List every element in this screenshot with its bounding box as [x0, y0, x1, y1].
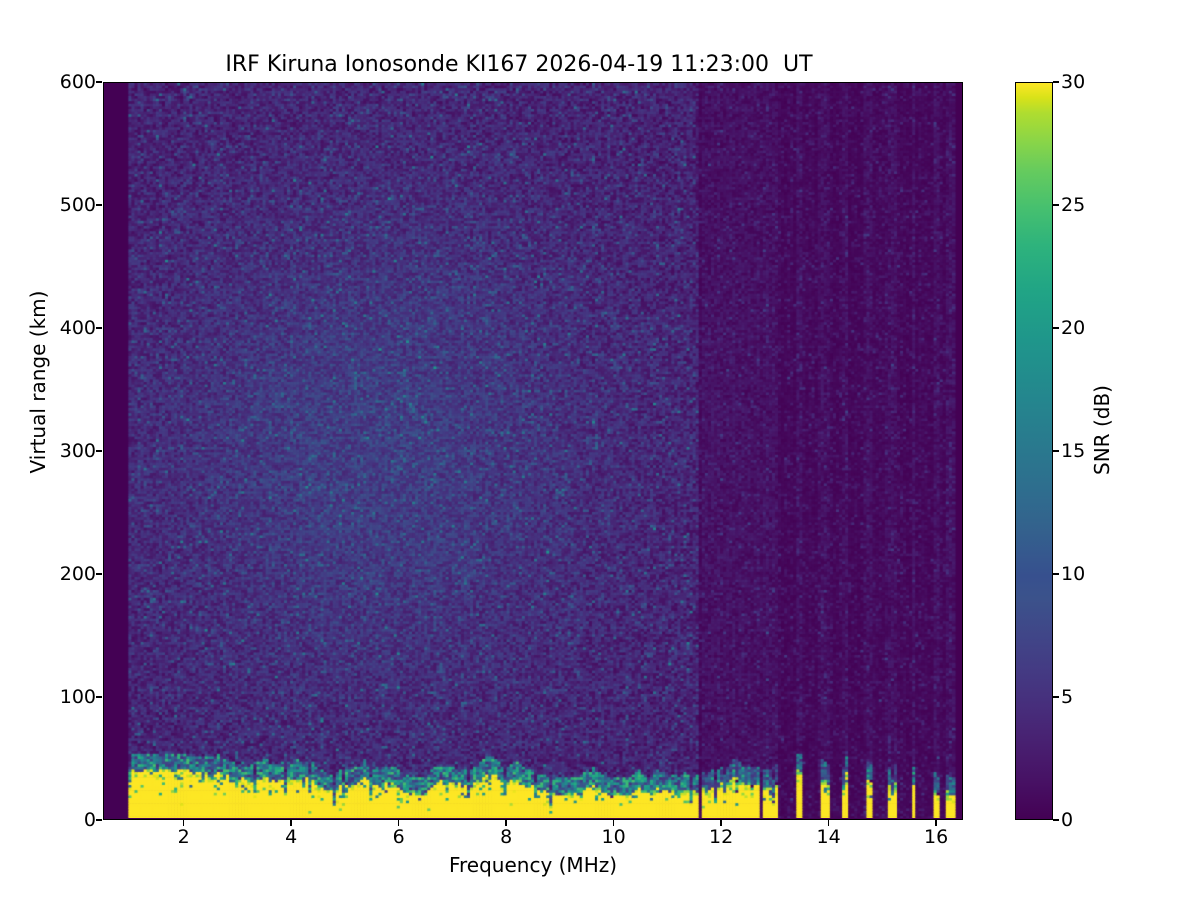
x-axis-tick-label: 8 — [500, 826, 512, 848]
y-axis-tick-mark — [96, 819, 102, 820]
y-axis-tick-label: 200 — [8, 563, 96, 585]
y-axis-tick-mark — [96, 204, 102, 205]
colorbar — [1015, 82, 1053, 820]
y-axis-tick-mark — [96, 573, 102, 574]
x-axis-tick-mark — [720, 820, 721, 826]
colorbar-tick-label: 15 — [1061, 440, 1085, 462]
colorbar-tick-label: 25 — [1061, 194, 1085, 216]
colorbar-tick-mark — [1053, 204, 1059, 205]
x-axis-tick-label: 10 — [602, 826, 626, 848]
colorbar-tick-mark — [1053, 819, 1059, 820]
x-axis-tick-label: 2 — [178, 826, 190, 848]
y-axis-tick-label: 0 — [8, 809, 96, 831]
colorbar-tick-mark — [1053, 696, 1059, 697]
y-axis-tick-label: 100 — [8, 686, 96, 708]
x-axis-label: Frequency (MHz) — [103, 853, 963, 877]
x-axis-tick-mark — [183, 820, 184, 826]
x-axis-tick-mark — [935, 820, 936, 826]
colorbar-label: SNR (dB) — [1090, 310, 1114, 550]
x-axis-tick-mark — [505, 820, 506, 826]
y-axis-tick-label: 500 — [8, 194, 96, 216]
y-axis-label: Virtual range (km) — [26, 262, 50, 502]
y-axis-tick-label: 400 — [8, 317, 96, 339]
x-axis-tick-label: 6 — [393, 826, 405, 848]
y-axis-tick-mark — [96, 696, 102, 697]
x-axis-tick-mark — [613, 820, 614, 826]
y-axis-tick-mark — [96, 450, 102, 451]
y-axis-tick-label: 600 — [8, 71, 96, 93]
colorbar-tick-mark — [1053, 573, 1059, 574]
colorbar-tick-label: 0 — [1061, 809, 1073, 831]
x-axis-tick-label: 4 — [285, 826, 297, 848]
colorbar-tick-label: 30 — [1061, 71, 1085, 93]
y-axis-tick-mark — [96, 327, 102, 328]
colorbar-tick-mark — [1053, 327, 1059, 328]
colorbar-tick-label: 10 — [1061, 563, 1085, 585]
x-axis-tick-label: 14 — [817, 826, 841, 848]
x-axis-tick-mark — [290, 820, 291, 826]
title-line-1: IRF Kiruna Ionosonde KI167 2026-04-19 11… — [225, 52, 812, 77]
ionogram-figure: IRF Kiruna Ionosonde KI167 2026-04-19 11… — [0, 0, 1200, 900]
colorbar-tick-mark — [1053, 81, 1059, 82]
ionogram-canvas — [104, 83, 961, 818]
y-axis-tick-mark — [96, 81, 102, 82]
x-axis-tick-label: 12 — [709, 826, 733, 848]
x-axis-tick-mark — [398, 820, 399, 826]
colorbar-tick-mark — [1053, 450, 1059, 451]
x-axis-tick-mark — [828, 820, 829, 826]
colorbar-tick-label: 5 — [1061, 686, 1073, 708]
heatmap-plot-area — [103, 82, 963, 820]
y-axis-tick-label: 300 — [8, 440, 96, 462]
colorbar-tick-label: 20 — [1061, 317, 1085, 339]
x-axis-tick-label: 16 — [924, 826, 948, 848]
